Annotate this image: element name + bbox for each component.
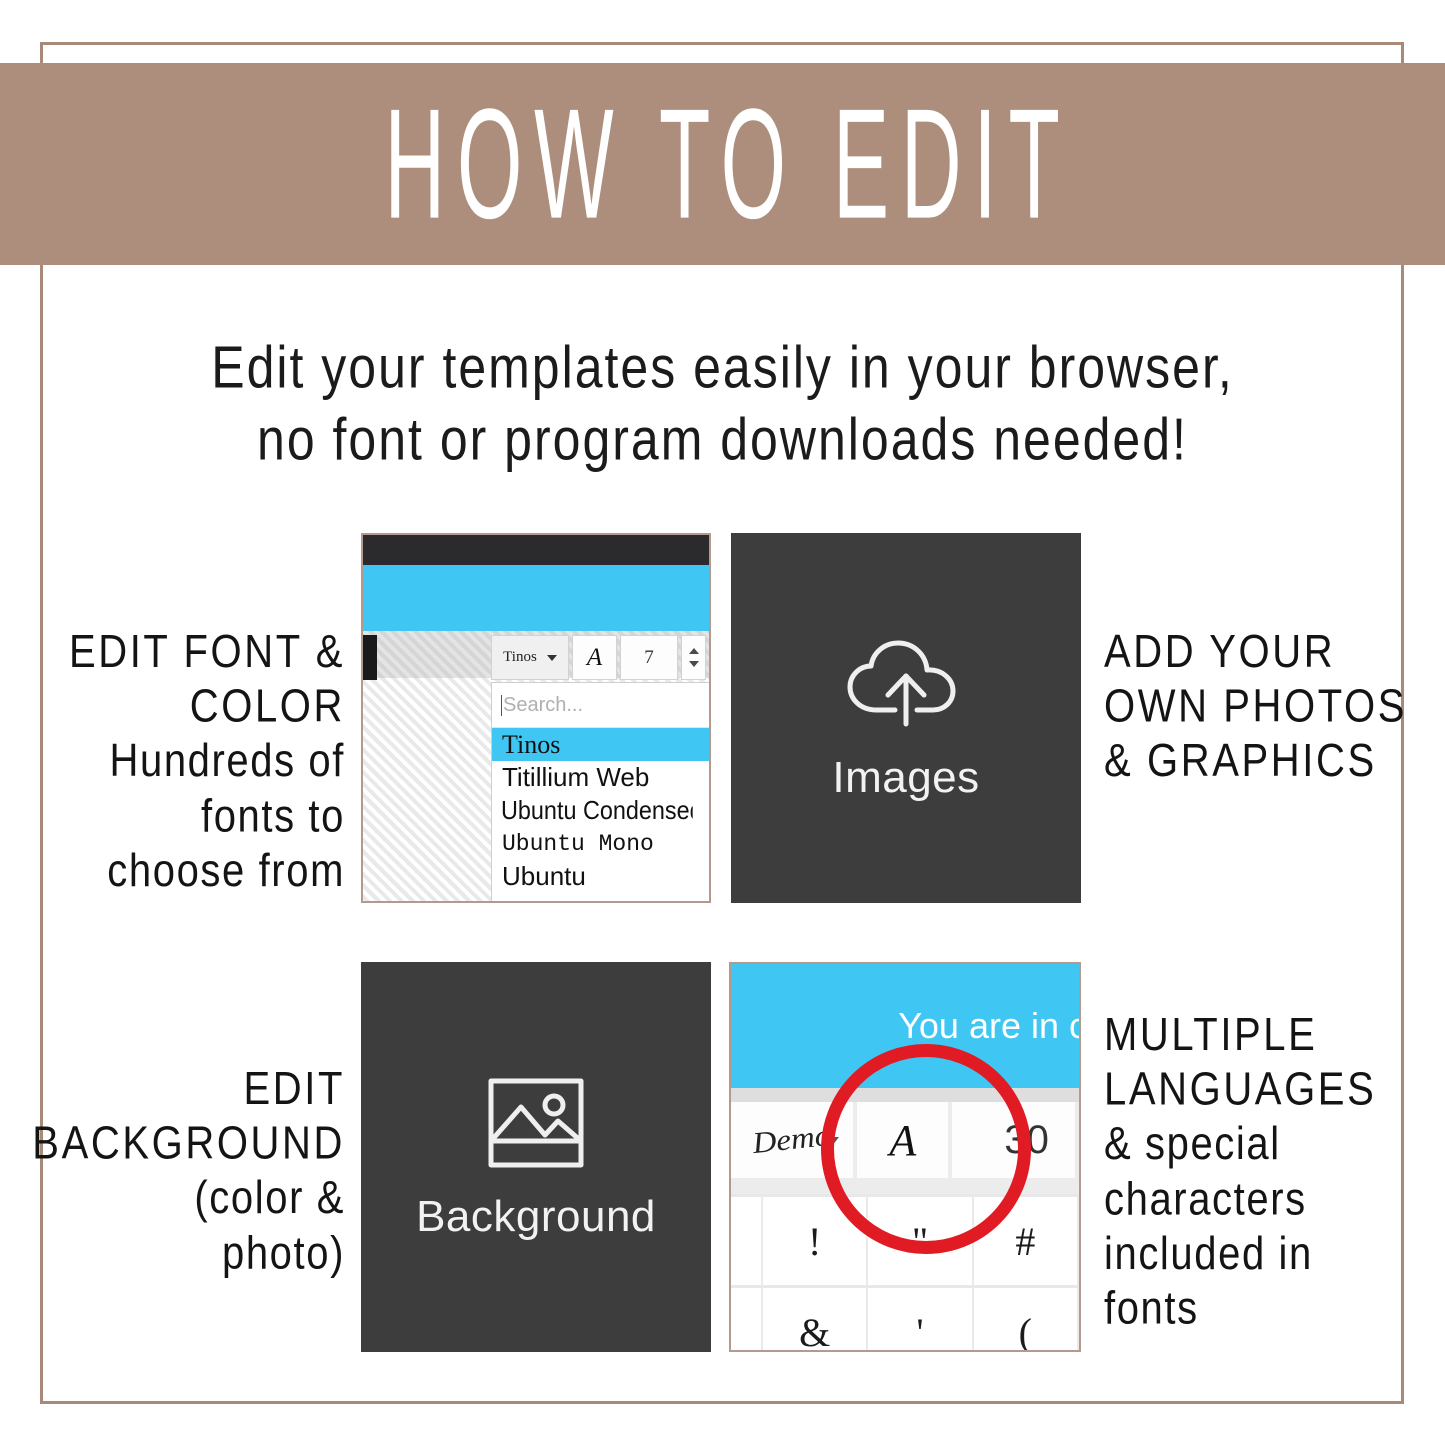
caption-line: EDIT FONT &	[30, 625, 345, 680]
caption-line: BACKGROUND	[20, 1117, 345, 1172]
editor-banner-cyan	[363, 565, 709, 631]
stepper-down-icon[interactable]	[689, 661, 699, 667]
caption-multiple-languages: MULTIPLE LANGUAGES & special characters …	[1104, 1008, 1434, 1336]
chevron-down-icon	[547, 655, 557, 661]
caption-line: & special	[1104, 1117, 1434, 1172]
caption-line: fonts to	[30, 789, 345, 844]
picture-icon	[483, 1073, 589, 1178]
caption-add-photos: ADD YOUR OWN PHOTOS & GRAPHICS	[1104, 625, 1445, 789]
font-list-item[interactable]: Ubuntu Condensed	[492, 794, 693, 827]
images-tile-label: Images	[832, 753, 979, 803]
intro-line-2: no font or program downloads needed!	[0, 404, 1445, 476]
page-title: HOW TO EDIT	[373, 86, 1071, 243]
font-list-item-label: Ubuntu	[502, 861, 586, 892]
character-cell[interactable]: (	[974, 1288, 1079, 1352]
caption-line: & GRAPHICS	[1104, 734, 1445, 789]
font-size-stepper[interactable]	[681, 635, 706, 680]
grid-gutter	[731, 1197, 763, 1285]
editor-left-black-bar	[363, 635, 377, 680]
font-preview-button[interactable]: A	[572, 635, 617, 680]
caption-line: choose from	[30, 844, 345, 899]
font-list-item[interactable]: Ubuntu Mono	[492, 827, 711, 860]
header-banner: HOW TO EDIT	[0, 63, 1445, 265]
font-list-item[interactable]: Tinos	[492, 728, 711, 761]
script-a-glyph: A	[587, 644, 602, 672]
cloud-upload-icon	[841, 634, 971, 739]
caption-line: characters	[1104, 1172, 1434, 1227]
editor-banner-text: You are in c	[898, 1005, 1081, 1047]
font-list-item-label: Tinos	[502, 730, 560, 760]
intro-line-1: Edit your templates easily in your brows…	[0, 332, 1445, 404]
caption-line: photo)	[20, 1226, 345, 1281]
font-size-input[interactable]: 7	[620, 635, 678, 680]
character-cell[interactable]: &	[763, 1288, 868, 1352]
stepper-up-icon[interactable]	[689, 648, 699, 654]
screenshot-images-tile[interactable]: Images	[731, 533, 1081, 903]
intro-text: Edit your templates easily in your brows…	[0, 332, 1445, 476]
caption-line: Hundreds of	[30, 734, 345, 789]
editor-title-bar	[363, 535, 709, 565]
screenshot-font-picker: Tinos A 7 Search... Tinos Titillium Web …	[361, 533, 711, 903]
background-tile-label: Background	[416, 1192, 656, 1242]
caption-edit-font-color: EDIT FONT & COLOR Hundreds of fonts to c…	[30, 625, 345, 899]
caption-line: fonts	[1104, 1282, 1434, 1337]
font-list-item-label: Titillium Web	[502, 762, 649, 793]
font-list-item-label: Ubuntu Mono	[502, 831, 654, 857]
grid-gutter	[731, 1288, 763, 1352]
screenshot-background-tile[interactable]: Background	[361, 962, 711, 1352]
caption-line: ADD YOUR	[1104, 625, 1445, 680]
caption-line: LANGUAGES	[1104, 1063, 1434, 1118]
font-list-dropdown[interactable]: Search... Tinos Titillium Web Ubuntu Con…	[491, 682, 711, 903]
text-cursor	[501, 695, 502, 716]
font-list-item[interactable]: Ubuntu	[492, 860, 711, 893]
red-highlight-circle	[821, 1044, 1031, 1254]
font-name-label: Tinos	[503, 649, 537, 666]
font-list-item-label: Ubuntu Condensed	[501, 795, 693, 826]
font-size-value: 7	[644, 647, 654, 669]
caption-line: EDIT	[20, 1062, 345, 1117]
font-toolbar: Tinos A 7	[491, 635, 709, 680]
caption-line: (color &	[20, 1171, 345, 1226]
font-search-placeholder: Search...	[503, 694, 583, 717]
screenshot-character-map: You are in c Demo A 30 ! " # & ' (	[729, 962, 1081, 1352]
character-row: & ' (	[731, 1285, 1079, 1352]
caption-edit-background: EDIT BACKGROUND (color & photo)	[20, 1062, 345, 1281]
caption-line: MULTIPLE	[1104, 1008, 1434, 1063]
font-name-dropdown[interactable]: Tinos	[491, 635, 569, 680]
caption-line: included in	[1104, 1227, 1434, 1282]
font-list-item[interactable]: Titillium Web	[492, 761, 711, 794]
caption-line: COLOR	[30, 680, 345, 735]
font-search-input[interactable]: Search...	[492, 683, 711, 728]
character-cell[interactable]: '	[868, 1288, 973, 1352]
caption-line: OWN PHOTOS	[1104, 680, 1445, 735]
